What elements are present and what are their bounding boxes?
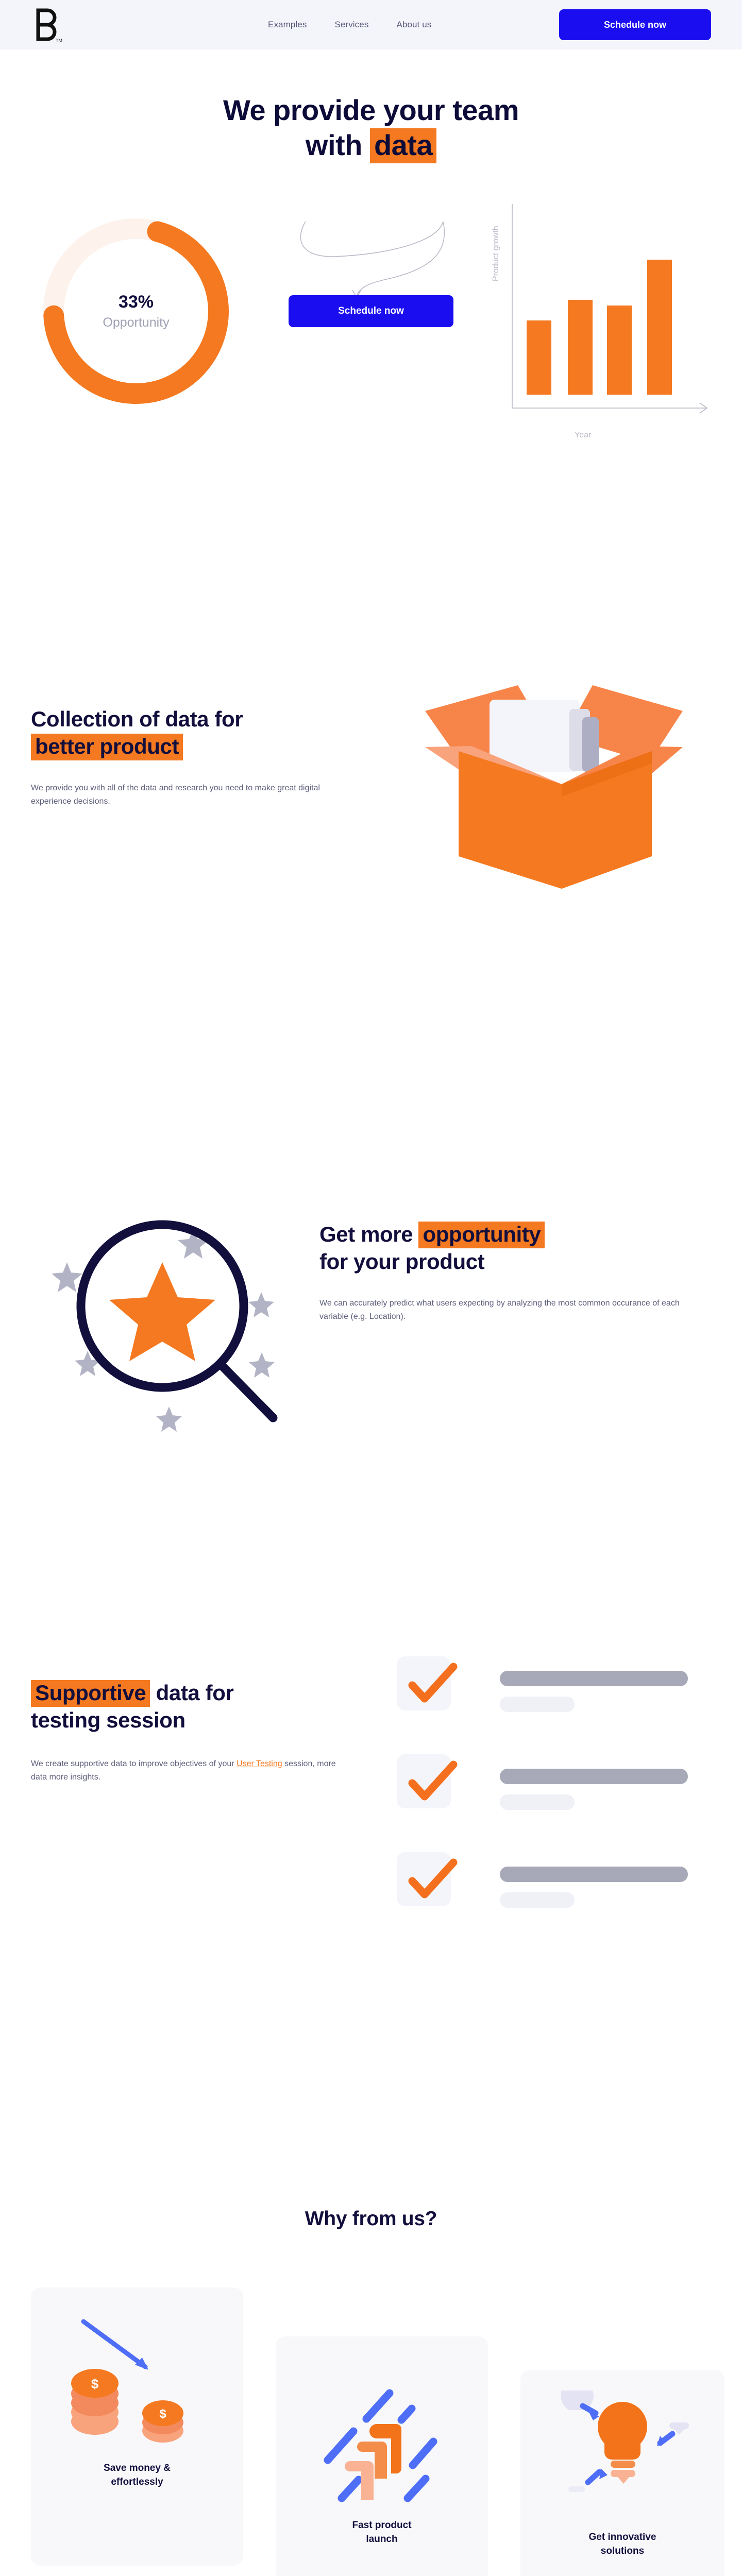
opportunity-title: Get more opportunity for your product — [319, 1221, 690, 1275]
site-header: TM Examples Services About us Schedule n… — [0, 0, 742, 49]
collection-title: Collection of data for better product — [31, 706, 350, 760]
magnifier-star-illustration — [36, 1180, 294, 1437]
supportive-body: We create supportive data to improve obj… — [31, 1757, 345, 1784]
checklist-illustration — [397, 1656, 696, 1929]
hero-title-line2-plain: with — [306, 129, 370, 161]
why-card-title: Save money &effortlessly — [104, 2462, 171, 2489]
list-item — [397, 1656, 696, 1718]
bar-chart-x-axis-label: Year — [575, 431, 591, 440]
donut-percent-label: Opportunity — [103, 315, 169, 330]
opportunity-title-highlight: opportunity — [418, 1222, 545, 1248]
check-icon — [404, 1757, 461, 1806]
why-card-title: Fast productlaunch — [352, 2519, 411, 2546]
hero-title: We provide your team with data — [0, 93, 742, 163]
supportive-title: Supportive data for testing session — [31, 1680, 361, 1734]
svg-text:$: $ — [159, 2407, 166, 2421]
opportunity-body: We can accurately predict what users exp… — [319, 1297, 680, 1323]
why-card-save-money[interactable]: $ $ Save money &effortlessly — [31, 2287, 243, 2566]
check-icon — [404, 1855, 461, 1904]
donut-percent-value: 33% — [119, 292, 154, 312]
hero-title-highlight: data — [370, 128, 436, 163]
list-line-primary — [500, 1671, 688, 1686]
opportunity-title-part1: Get more — [319, 1222, 418, 1246]
list-line-secondary — [500, 1697, 575, 1712]
product-growth-bar-chart: Product growth Year — [495, 204, 716, 451]
hero-schedule-now-button[interactable]: Schedule now — [289, 295, 453, 327]
why-card-innovative[interactable]: Get innovativesolutions — [520, 2370, 724, 2576]
collection-title-highlight: better product — [31, 734, 183, 760]
supportive-section-text: Supportive data for testing session We c… — [31, 1680, 361, 1784]
open-box-illustration — [415, 654, 693, 891]
bar-chart-y-axis-label: Product growth — [492, 226, 501, 281]
list-line-secondary — [500, 1892, 575, 1908]
why-card-title: Get innovativesolutions — [589, 2531, 656, 2558]
rocket-speed-icon — [305, 2388, 459, 2506]
brand-logo[interactable]: TM — [31, 7, 64, 44]
supportive-title-part2: data for — [150, 1681, 233, 1705]
coins-arrow-icon: $ $ — [60, 2311, 214, 2450]
donut-center-labels: 33% Opportunity — [33, 208, 239, 414]
opportunity-donut-chart: 33% Opportunity — [33, 208, 239, 414]
nav-item-services[interactable]: Services — [334, 20, 368, 30]
opportunity-section-text: Get more opportunity for your product We… — [319, 1221, 690, 1323]
why-section-title: Why from us? — [0, 2208, 742, 2230]
hero-title-line1: We provide your team — [223, 94, 519, 126]
list-line-primary — [500, 1769, 688, 1784]
check-icon — [404, 1659, 461, 1708]
supportive-body-part1: We create supportive data to improve obj… — [31, 1759, 237, 1768]
list-item — [397, 1754, 696, 1816]
opportunity-title-line2: for your product — [319, 1249, 484, 1274]
main-nav: Examples Services About us — [268, 0, 431, 49]
collection-section-text: Collection of data for better product We… — [31, 706, 350, 808]
supportive-title-line2: testing session — [31, 1708, 185, 1732]
collection-body: We provide you with all of the data and … — [31, 782, 330, 808]
hero-middle-group: Schedule now — [268, 222, 474, 397]
user-testing-link[interactable]: User Testing — [237, 1759, 282, 1768]
supportive-title-highlight: Supportive — [31, 1680, 150, 1707]
svg-text:$: $ — [91, 2376, 99, 2392]
list-line-primary — [500, 1867, 688, 1882]
why-card-fast-launch[interactable]: Fast productlaunch — [276, 2336, 488, 2576]
lightbulb-icon — [537, 2391, 707, 2519]
header-schedule-now-button[interactable]: Schedule now — [559, 9, 711, 40]
nav-item-about-us[interactable]: About us — [396, 20, 431, 30]
collection-title-line1: Collection of data for — [31, 707, 243, 731]
list-item — [397, 1852, 696, 1914]
nav-item-examples[interactable]: Examples — [268, 20, 307, 30]
list-line-secondary — [500, 1794, 575, 1810]
svg-text:TM: TM — [56, 38, 62, 43]
